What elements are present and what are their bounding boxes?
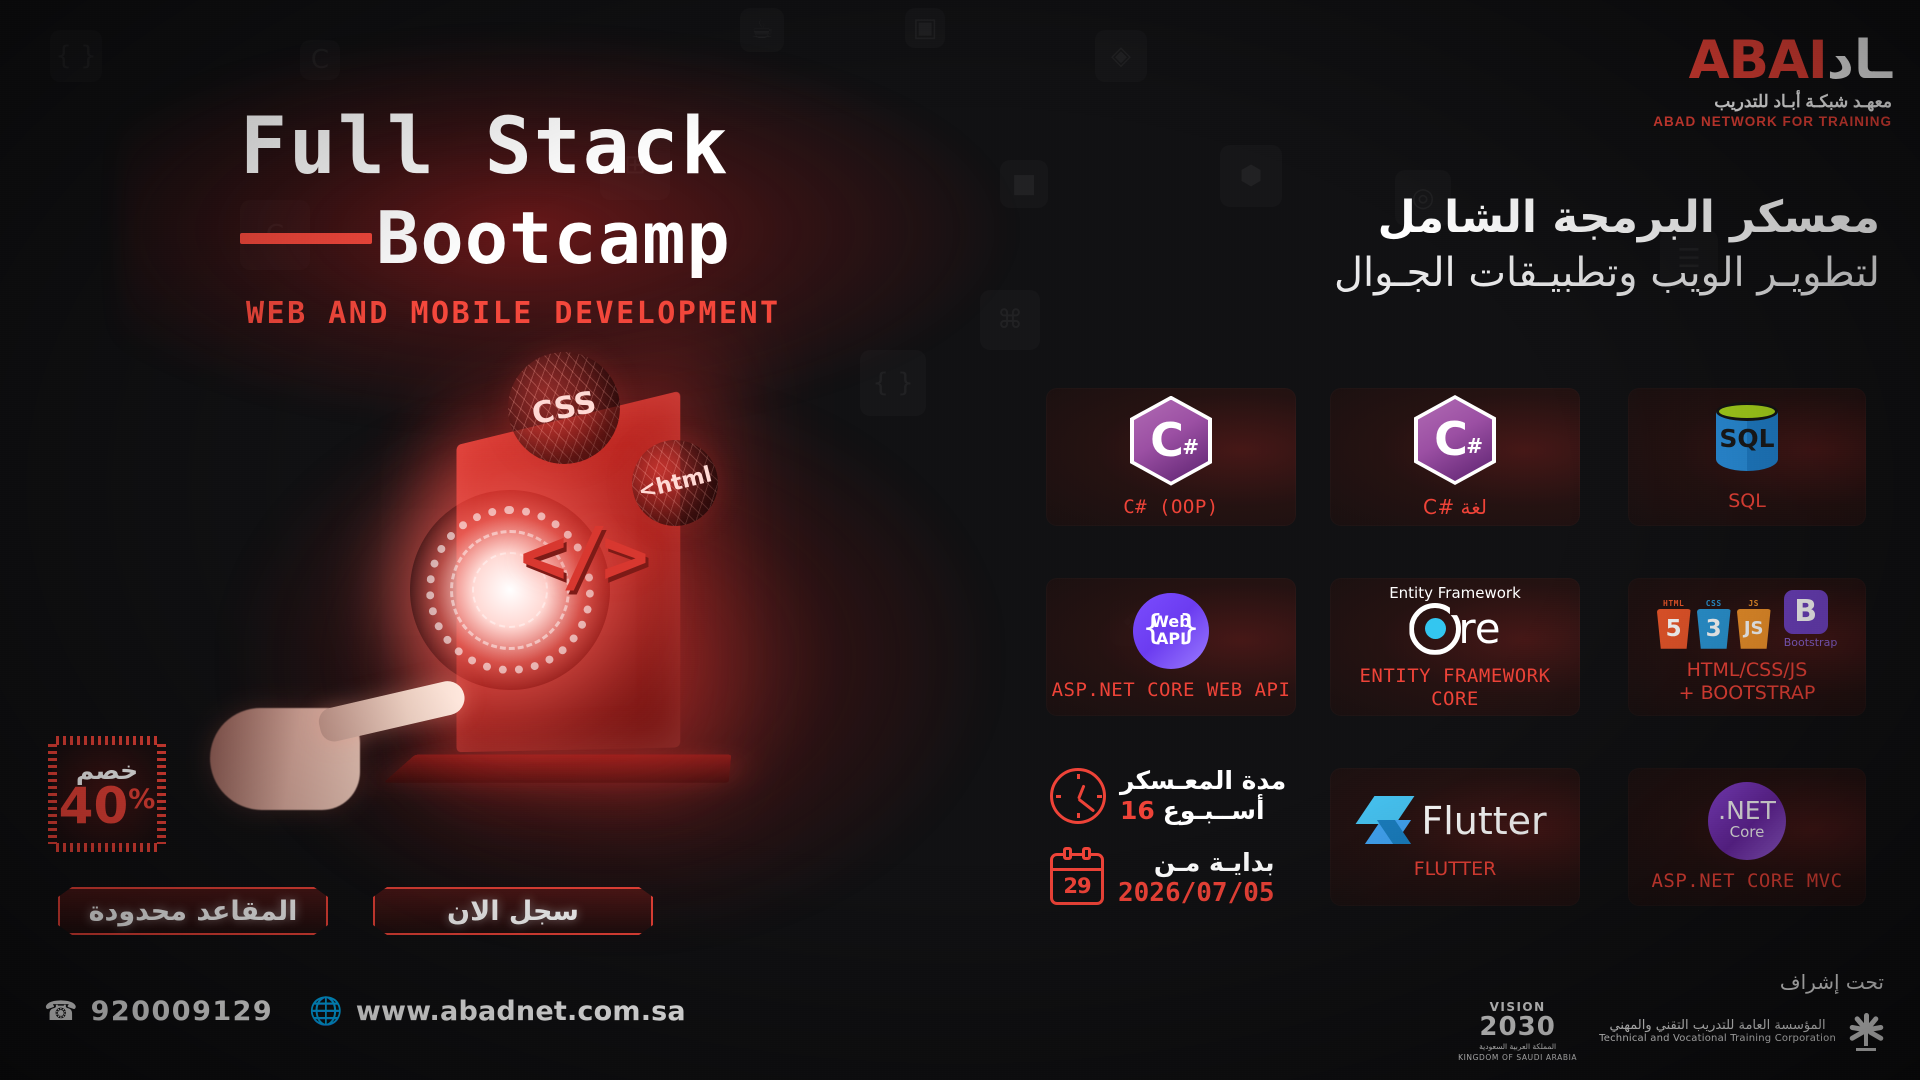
entity-framework-core-icon: Entity Framework re — [1389, 584, 1521, 655]
discount-badge: خصم 40 % — [52, 740, 162, 848]
tvtc-name-english: Technical and Vocational Training Corpor… — [1599, 1033, 1836, 1044]
globe-icon: 🌐 — [309, 998, 343, 1025]
hand-index-finger — [316, 678, 468, 744]
arabic-headline-line-2: لتطويـر الويب وتطبيـقات الجـوال — [1334, 247, 1880, 299]
css3-number: 3 — [1697, 609, 1731, 649]
website-url: www.abadnet.com.sa — [356, 996, 686, 1027]
pointing-hand — [210, 660, 440, 810]
tech-card-csharp-language[interactable]: C# لغة #C — [1330, 388, 1580, 526]
flutter-wordmark: Flutter — [1421, 799, 1546, 843]
javascript-tag: JS — [1737, 599, 1771, 608]
logo-arabic: ـاد — [1827, 30, 1892, 91]
start-date: 2026/07/05 — [1118, 878, 1275, 910]
tech-card-entity-framework-core[interactable]: Entity Framework re ENTITY FRAMEWORK COR… — [1330, 578, 1580, 716]
register-now-button[interactable]: سجل الان — [373, 887, 653, 935]
clock-icon — [1050, 768, 1106, 824]
dotnet-core-icon: .NET Core — [1708, 782, 1786, 860]
duration-text: مدة المعـسكر أســبـوع 16 — [1120, 766, 1286, 827]
bg-tile: C — [300, 40, 340, 80]
bootstrap-letter: B — [1784, 590, 1828, 634]
arabic-headline: معسكر البرمجة الشامل لتطويـر الويب وتطبي… — [1334, 190, 1880, 299]
tech-card-label: SQL — [1728, 490, 1766, 513]
ef-icon-top-text: Entity Framework — [1389, 584, 1521, 602]
headline-line-2-row: Bootcamp — [240, 202, 781, 274]
tech-card-sql[interactable]: SQL SQL — [1628, 388, 1866, 526]
limited-seats-button[interactable]: المقاعد محدودة — [58, 887, 328, 935]
javascript-icon: JS JS — [1737, 599, 1771, 649]
calendar-day-number: 29 — [1063, 874, 1090, 898]
logo-latin: ABAI — [1689, 30, 1827, 91]
bg-tile: ☕ — [740, 8, 784, 52]
tech-card-aspnet-core-mvc[interactable]: .NET Core ASP.NET CORE MVC — [1628, 768, 1866, 906]
vision-number: 2030 — [1458, 1014, 1577, 1040]
start-text: بدايـة مـن 2026/07/05 — [1118, 848, 1275, 910]
tvtc-emblem-icon — [1848, 1011, 1884, 1051]
bootstrap-icon: B Bootstrap — [1784, 590, 1838, 649]
tech-card-label: ASP.NET CORE MVC — [1651, 870, 1842, 893]
contact-bar: ☎ 920009129 🌐 www.abadnet.com.sa — [44, 996, 686, 1027]
camp-duration-info: مدة المعـسكر أســبـوع 16 — [1050, 762, 1305, 830]
badge-edge-right — [157, 744, 166, 844]
vision-sub-arabic: المملكة العربية السعودية — [1458, 1042, 1577, 1051]
arabic-headline-line-1: معسكر البرمجة الشامل — [1334, 190, 1880, 245]
duration-value-row: أســبـوع 16 — [1120, 796, 1286, 827]
badge-edge-top — [56, 736, 158, 745]
tech-card-label: C# (OOP) — [1123, 496, 1219, 519]
tech-card-csharp-oop[interactable]: C# C# (OOP) — [1046, 388, 1296, 526]
headline-accent-rule — [240, 233, 372, 244]
bg-tile: ■ — [1000, 160, 1048, 208]
phone-icon: ☎ — [44, 998, 78, 1025]
tech-card-label: ASP.NET CORE WEB API — [1052, 679, 1291, 702]
supervision-footer: تحت إشراف VISION 2030 المملكة العربية ال… — [1458, 970, 1884, 1062]
discount-number: 40 — [59, 783, 129, 831]
tvtc-text: المؤسسة العامة للتدريب التقني والمهني Te… — [1599, 1018, 1836, 1044]
tech-card-flutter[interactable]: Flutter FLUTTER — [1330, 768, 1580, 906]
main-headline: Full Stack Bootcamp WEB AND MOBILE DEVEL… — [240, 108, 781, 331]
dotnet-text-1: .NET — [1718, 798, 1776, 823]
contact-phone[interactable]: ☎ 920009129 — [44, 996, 273, 1027]
tvtc-name-arabic: المؤسسة العامة للتدريب التقني والمهني — [1599, 1018, 1836, 1033]
tech-card-html-css-js-bootstrap[interactable]: HTML 5 CSS 3 JS JS B Bootstrap HTML/CSS/… — [1628, 578, 1866, 716]
vision-sub-english: KINGDOM OF SAUDI ARABIA — [1458, 1053, 1577, 1062]
camp-start-info: بدايـة مـن 2026/07/05 29 — [1050, 845, 1305, 913]
tech-card-web-api[interactable]: { Web API } ASP.NET CORE WEB API — [1046, 578, 1296, 716]
html-css-js-bootstrap-icon: HTML 5 CSS 3 JS JS B Bootstrap — [1657, 590, 1838, 649]
javascript-number: JS — [1737, 609, 1771, 649]
tech-card-label: لغة #C — [1423, 495, 1487, 519]
brand-logo: ABAIـاد معهـد شبكـة أبـاد للتدريب ABAD N… — [1653, 34, 1892, 129]
discount-percent-sign: % — [128, 787, 155, 813]
css3-icon: CSS 3 — [1697, 599, 1731, 649]
ef-icon-word: re — [1458, 610, 1500, 648]
sql-database-icon: SQL — [1716, 402, 1778, 480]
tech-card-label: ENTITY FRAMEWORK CORE — [1330, 665, 1580, 711]
tech-card-label-line-2: + BOOTSTRAP — [1679, 682, 1816, 705]
bg-tile: ⬢ — [1220, 145, 1282, 207]
headline-line-1: Full Stack — [240, 108, 781, 186]
bootstrap-name: Bootstrap — [1784, 636, 1838, 649]
badge-edge-bottom — [56, 843, 158, 852]
calendar-icon: 29 — [1050, 853, 1104, 905]
bg-tile: { } — [50, 30, 102, 82]
poster-canvas: { } C ☕ ▣ ◈ ⬢ ◎ ■ ❖ ⊞ ⌘ ☰ { } C ABAIـاد … — [0, 0, 1920, 1080]
dotnet-text-2: Core — [1730, 823, 1765, 843]
headline-subtitle: WEB AND MOBILE DEVELOPMENT — [246, 296, 781, 331]
sql-icon-text: SQL — [1716, 424, 1778, 453]
supervision-title: تحت إشراف — [1458, 970, 1884, 994]
html5-tag: HTML — [1657, 599, 1691, 608]
code-brackets-icon: </> — [520, 512, 643, 602]
tech-card-label-line-1: HTML/CSS/JS — [1687, 659, 1808, 682]
start-label: بدايـة مـن — [1118, 848, 1275, 879]
badge-edge-left — [48, 744, 57, 844]
vision-2030-logo: VISION 2030 المملكة العربية السعودية KIN… — [1458, 1000, 1577, 1062]
discount-amount: 40 % — [59, 783, 156, 831]
hero-illustration: CSS <html </> — [150, 360, 870, 940]
duration-number: 16 — [1120, 796, 1155, 827]
logo-subtitle-arabic: معهـد شبكـة أبـاد للتدريب — [1653, 92, 1892, 112]
bg-tile: ◈ — [1095, 30, 1147, 82]
flutter-icon: Flutter — [1363, 794, 1546, 848]
supervision-logos: VISION 2030 المملكة العربية السعودية KIN… — [1458, 1000, 1884, 1062]
contact-website[interactable]: 🌐 www.abadnet.com.sa — [309, 996, 686, 1027]
css3-tag: CSS — [1697, 599, 1731, 608]
duration-label: مدة المعـسكر — [1120, 766, 1286, 797]
phone-number: 920009129 — [91, 996, 274, 1027]
headline-line-2: Bootcamp — [376, 202, 731, 274]
tvtc-logo: المؤسسة العامة للتدريب التقني والمهني Te… — [1599, 1011, 1884, 1051]
html5-number: 5 — [1657, 609, 1691, 649]
duration-unit: أســبـوع — [1163, 796, 1265, 827]
web-api-icon: { Web API } — [1133, 593, 1209, 669]
tech-card-label: FLUTTER — [1414, 858, 1497, 881]
csharp-hex-icon: C# — [1130, 396, 1212, 486]
html5-icon: HTML 5 — [1657, 599, 1691, 649]
csharp-hex-icon: C# — [1414, 395, 1496, 485]
logo-subtitle-english: ABAD NETWORK FOR TRAINING — [1653, 114, 1892, 129]
bg-tile: ▣ — [905, 8, 945, 48]
logo-wordmark: ABAIـاد — [1653, 34, 1892, 87]
bg-tile: ⌘ — [980, 290, 1040, 350]
